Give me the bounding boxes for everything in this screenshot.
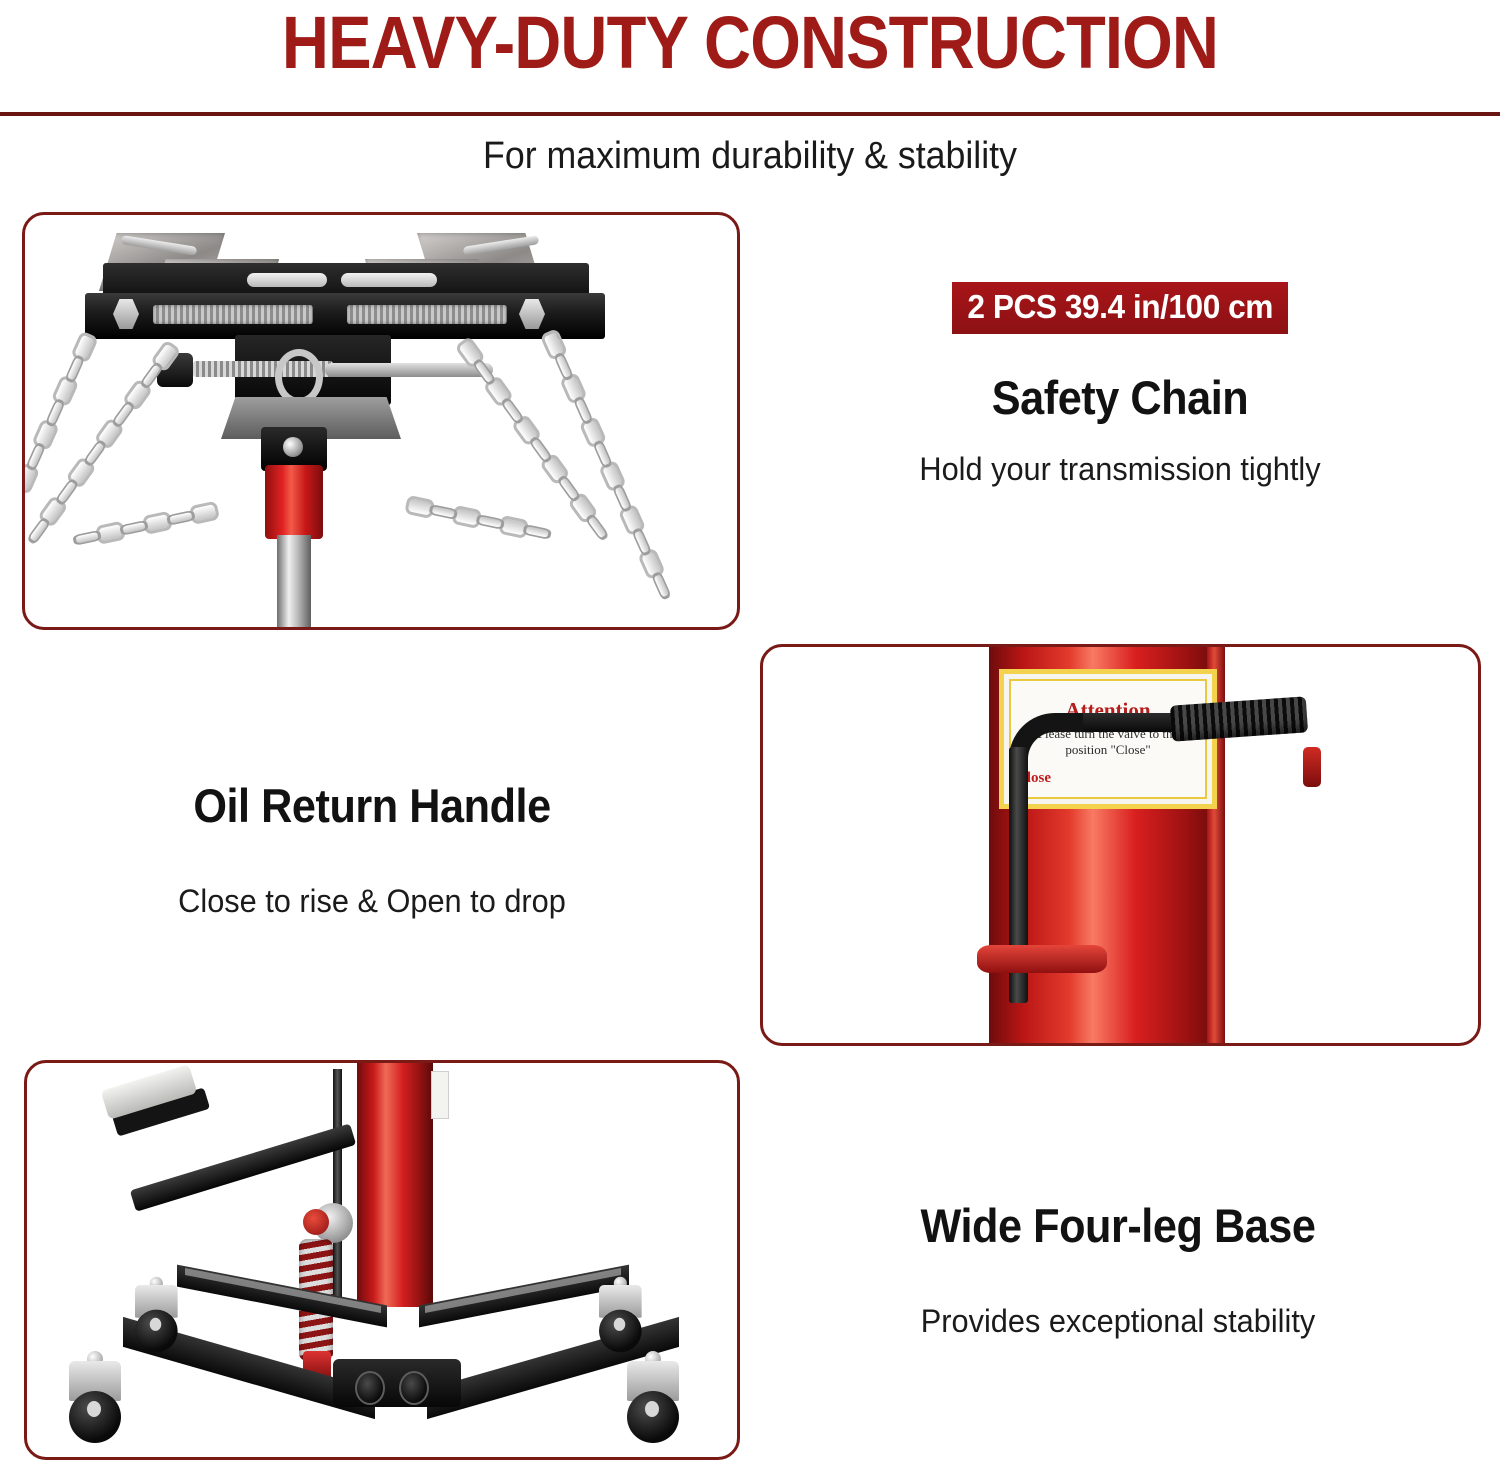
title-divider (0, 112, 1500, 116)
safety-chain-drape-right (404, 501, 548, 544)
feature-safety-chain: 2 PCS 39.4 in/100 cm Safety Chain Hold y… (770, 282, 1470, 490)
feature-subtitle: Provides exceptional stability (776, 1300, 1460, 1342)
feature-oil-return-handle: Oil Return Handle Close to rise & Open t… (16, 778, 728, 922)
saddle-rail (153, 305, 313, 324)
feature-wide-four-leg-base: Wide Four-leg Base Provides exceptional … (762, 1198, 1474, 1342)
feature-title: Oil Return Handle (44, 778, 699, 834)
foot-pedal-arm (130, 1123, 356, 1211)
caster-wheel (599, 1310, 642, 1353)
spec-sticker (431, 1071, 449, 1119)
retaining-ring-icon (275, 349, 323, 405)
saddle-slot (247, 273, 327, 287)
base-hole-icon (355, 1371, 385, 1405)
safety-chain-drape-left (75, 501, 219, 544)
bolt-icon (283, 437, 303, 457)
photo-panel-safety-chain (22, 212, 740, 630)
side-valve-knob (1303, 747, 1321, 787)
feature-title: Safety Chain (798, 370, 1442, 426)
feature-title: Wide Four-leg Base (790, 1198, 1445, 1254)
product-photo-four-leg-base (27, 1063, 737, 1457)
caster-wheel (69, 1391, 121, 1443)
caster-wheel (627, 1391, 679, 1443)
saddle-rail (347, 305, 507, 324)
product-photo-saddle-head (25, 215, 737, 627)
status-badge: 2 PCS 39.4 in/100 cm (952, 282, 1288, 334)
page-title: HEAVY-DUTY CONSTRUCTION (90, 2, 1410, 84)
feature-subtitle: Close to rise & Open to drop (30, 880, 714, 922)
saddle-slot (341, 273, 437, 287)
page-subtitle: For maximum durability & stability (45, 132, 1455, 180)
base-hole-icon (399, 1371, 429, 1405)
linkage-rod (333, 1069, 342, 1301)
red-cylinder-collar (265, 465, 323, 539)
red-main-column (357, 1060, 433, 1307)
handle-horizontal-arm (1075, 713, 1185, 732)
photo-panel-four-leg-base (24, 1060, 740, 1460)
pedal-pivot-red-icon (303, 1209, 329, 1235)
red-retaining-clip (977, 945, 1107, 973)
base-center-hub (333, 1359, 461, 1407)
chrome-ram (277, 535, 311, 627)
photo-panel-oil-return-handle: Attention Please turn the valve to the p… (760, 644, 1481, 1046)
feature-subtitle: Hold your transmission tightly (784, 448, 1456, 490)
product-photo-oil-return-handle: Attention Please turn the valve to the p… (763, 647, 1478, 1043)
caster-wheel (135, 1310, 178, 1353)
